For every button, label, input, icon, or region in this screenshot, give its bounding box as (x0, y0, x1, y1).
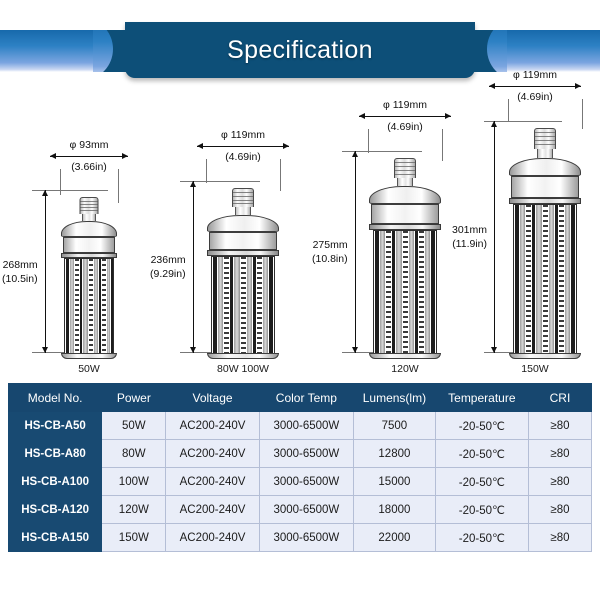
height-dimension-mm-80w: 236mm (150, 253, 186, 267)
cell-voltage: AC200-240V (166, 496, 259, 524)
width-dimension-in-50w: (3.66in) (50, 161, 128, 174)
width-dimension-in-80w: (4.69in) (197, 151, 289, 164)
bulb-screw-cap-80w (232, 188, 254, 207)
bulb-screw-cap-50w (80, 197, 99, 214)
width-dimension-in-150w: (4.69in) (489, 91, 581, 104)
cell-lumens: 18000 (354, 496, 436, 524)
width-dimension-line-150w (489, 82, 581, 91)
cell-power: 50W (102, 412, 166, 440)
cell-color-temp: 3000-6500W (259, 496, 353, 524)
bulb-shade-150w (509, 158, 581, 176)
cell-temperature: -20-50℃ (435, 440, 528, 468)
cell-model: HS-CB-A50 (9, 412, 102, 440)
lamp-diagram-50w: φ 93mm (3.66in) 268mm (10.5in) (14, 97, 164, 375)
banner-shoulder-right (473, 30, 507, 72)
height-dimension-line-120w (351, 151, 360, 353)
table-header-lumens: Lumens(lm) (354, 384, 436, 412)
bulb-artwork-120w (368, 157, 442, 359)
banner-shoulder-left (93, 30, 127, 72)
cell-power: 150W (102, 524, 166, 552)
cell-power: 80W (102, 440, 166, 468)
cell-voltage: AC200-240V (166, 440, 259, 468)
width-dimension-line-120w (359, 112, 451, 121)
cell-temperature: -20-50℃ (435, 496, 528, 524)
bulb-artwork-150w (508, 127, 582, 359)
width-dimension-50w: φ 93mm (3.66in) (50, 139, 128, 174)
cell-power: 100W (102, 468, 166, 496)
bulb-housing-150w (511, 176, 579, 198)
lamp-diagram-80w-100w: φ 119mm (4.69in) 236mm (9.29in) (168, 97, 318, 375)
table-header-row: Model No. Power Voltage Color Temp Lumen… (9, 384, 592, 412)
bulb-led-body-120w (373, 230, 437, 354)
bulb-led-body-50w (64, 258, 114, 354)
bulb-led-body-80w (211, 256, 275, 354)
height-dimension-line-80w (189, 181, 198, 353)
height-dimension-mm-50w: 268mm (2, 258, 38, 272)
height-dimension-in-150w: (11.9in) (452, 237, 487, 251)
bulb-bottom-base-80w (207, 353, 279, 359)
cell-cri: ≥80 (528, 440, 591, 468)
cell-voltage: AC200-240V (166, 524, 259, 552)
bulb-bottom-base-150w (509, 353, 581, 359)
table-header-voltage: Voltage (166, 384, 259, 412)
cell-lumens: 15000 (354, 468, 436, 496)
cell-model: HS-CB-A80 (9, 440, 102, 468)
bulb-neck-150w (537, 149, 553, 158)
width-dimension-150w: φ 119mm (4.69in) (489, 69, 581, 104)
table-row: HS-CB-A120 120W AC200-240V 3000-6500W 18… (9, 496, 592, 524)
bulb-artwork-80w (206, 187, 280, 359)
height-dimension-in-120w: (10.8in) (312, 252, 348, 266)
height-dimension-mm-120w: 275mm (312, 238, 348, 252)
bulb-shade-50w (61, 221, 117, 237)
bulb-screw-cap-150w (534, 128, 556, 149)
cell-color-temp: 3000-6500W (259, 524, 353, 552)
cell-lumens: 12800 (354, 440, 436, 468)
page-title: Specification (125, 22, 475, 78)
bulb-neck-80w (235, 207, 251, 215)
table-header-temperature: Temperature (435, 384, 528, 412)
table-header-color-temp: Color Temp (259, 384, 353, 412)
table-header-model: Model No. (9, 384, 102, 412)
cell-lumens: 7500 (354, 412, 436, 440)
cell-color-temp: 3000-6500W (259, 468, 353, 496)
bulb-screw-cap-120w (394, 158, 416, 178)
dimension-diagram-group: φ 93mm (3.66in) 268mm (10.5in) (0, 95, 600, 375)
width-dimension-120w: φ 119mm (4.69in) (359, 99, 451, 134)
cell-color-temp: 3000-6500W (259, 440, 353, 468)
cell-temperature: -20-50℃ (435, 412, 528, 440)
bulb-led-body-150w (513, 204, 577, 354)
width-dimension-80w: φ 119mm (4.69in) (197, 129, 289, 164)
width-dimension-in-120w: (4.69in) (359, 121, 451, 134)
bulb-housing-80w (209, 232, 277, 250)
bulb-artwork-50w (60, 197, 118, 359)
lamp-caption-120w: 120W (391, 363, 418, 375)
cell-voltage: AC200-240V (166, 412, 259, 440)
cell-power: 120W (102, 496, 166, 524)
table-row: HS-CB-A150 150W AC200-240V 3000-6500W 22… (9, 524, 592, 552)
table-header-power: Power (102, 384, 166, 412)
height-dimension-in-80w: (9.29in) (150, 267, 186, 281)
bulb-shade-120w (369, 186, 441, 204)
height-dimension-in-50w: (10.5in) (2, 272, 38, 286)
height-dimension-50w: 268mm (10.5in) (2, 190, 50, 353)
cell-temperature: -20-50℃ (435, 468, 528, 496)
cell-cri: ≥80 (528, 496, 591, 524)
specification-page: Specification φ 93mm (3.66in) (0, 0, 600, 600)
cell-model: HS-CB-A120 (9, 496, 102, 524)
bulb-bottom-base-50w (61, 353, 117, 359)
lamp-caption-150w: 150W (521, 363, 548, 375)
bulb-housing-120w (371, 204, 439, 224)
cell-color-temp: 3000-6500W (259, 412, 353, 440)
width-dimension-line-80w (197, 142, 289, 151)
bulb-shade-80w (207, 215, 279, 232)
cell-cri: ≥80 (528, 524, 591, 552)
width-dimension-mm-120w: φ 119mm (359, 99, 451, 112)
height-dimension-150w: 301mm (11.9in) (452, 121, 499, 353)
width-dimension-mm-80w: φ 119mm (197, 129, 289, 142)
lamp-diagram-150w: φ 119mm (4.69in) 301mm (11.9in) (470, 97, 600, 375)
height-dimension-120w: 275mm (10.8in) (312, 151, 360, 353)
cell-model: HS-CB-A150 (9, 524, 102, 552)
table-header-cri: CRI (528, 384, 591, 412)
cell-temperature: -20-50℃ (435, 524, 528, 552)
table-row: HS-CB-A100 100W AC200-240V 3000-6500W 15… (9, 468, 592, 496)
height-dimension-mm-150w: 301mm (452, 223, 487, 237)
cell-lumens: 22000 (354, 524, 436, 552)
cell-cri: ≥80 (528, 468, 591, 496)
bulb-neck-50w (82, 214, 96, 221)
height-dimension-line-150w (490, 121, 499, 353)
bulb-neck-120w (397, 178, 413, 186)
lamp-caption-80w-100w: 80W 100W (217, 363, 269, 375)
cell-voltage: AC200-240V (166, 468, 259, 496)
extension-line-right-50w (118, 169, 119, 203)
table-row: HS-CB-A80 80W AC200-240V 3000-6500W 1280… (9, 440, 592, 468)
width-dimension-mm-50w: φ 93mm (50, 139, 128, 152)
bulb-housing-50w (63, 237, 115, 253)
width-dimension-mm-150w: φ 119mm (489, 69, 581, 82)
cell-model: HS-CB-A100 (9, 468, 102, 496)
width-dimension-line-50w (50, 152, 128, 161)
table-row: HS-CB-A50 50W AC200-240V 3000-6500W 7500… (9, 412, 592, 440)
extension-line-right-150w (582, 99, 583, 129)
height-dimension-line-50w (41, 190, 50, 353)
bulb-bottom-base-120w (369, 353, 441, 359)
height-dimension-80w: 236mm (9.29in) (150, 181, 198, 353)
lamp-caption-50w: 50W (78, 363, 100, 375)
cell-cri: ≥80 (528, 412, 591, 440)
specification-table: Model No. Power Voltage Color Temp Lumen… (8, 383, 592, 552)
